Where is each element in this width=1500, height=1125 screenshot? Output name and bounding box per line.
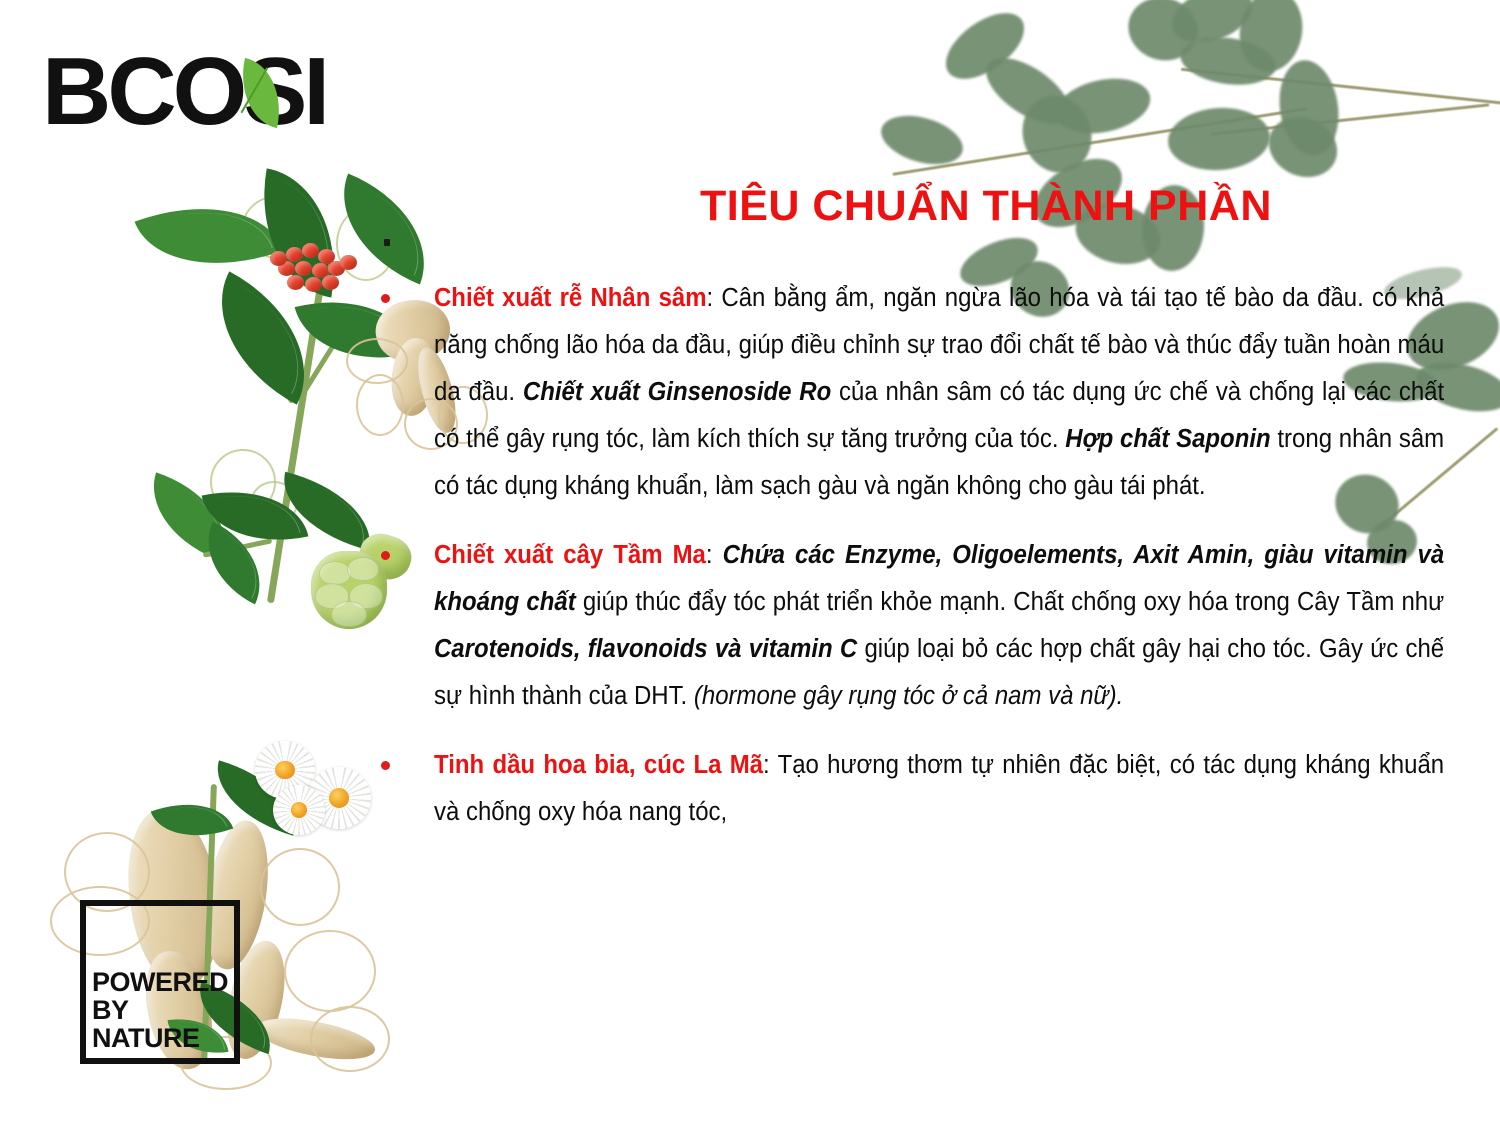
slide-body: Chiết xuất rễ Nhân sâm: Cân bằng ẩm, ngă… bbox=[378, 275, 1388, 858]
bullet-text: Chiết xuất cây Tầm Ma: Chứa các Enzyme, … bbox=[434, 532, 1444, 720]
eucalyptus-branch-top-right-image bbox=[880, 0, 1500, 320]
badge-line-2: BY bbox=[92, 996, 228, 1024]
bullet-segment-emphasis: Hợp chất Saponin bbox=[1065, 425, 1270, 453]
bullet-text: Tinh dầu hoa bia, cúc La Mã: Tạo hương t… bbox=[434, 742, 1444, 836]
badge-text: POWERED BY NATURE bbox=[92, 968, 228, 1052]
daisy-flower bbox=[307, 767, 371, 829]
bullet-separator: : bbox=[706, 541, 723, 569]
stray-mark bbox=[384, 239, 390, 246]
bullet-segment: giúp thúc đẩy tóc phát triển khỏe mạnh. … bbox=[576, 588, 1444, 616]
bullet-separator: : bbox=[707, 284, 722, 312]
slide-title: TIÊU CHUẨN THÀNH PHẦN bbox=[700, 182, 1400, 231]
powered-by-nature-badge: POWERED BY NATURE bbox=[80, 900, 240, 1064]
bullet-item: Tinh dầu hoa bia, cúc La Mã: Tạo hương t… bbox=[378, 742, 1388, 836]
bullet-separator: : bbox=[763, 751, 778, 779]
bullet-segment-note: (hormone gây rụng tóc ở cả nam và nữ). bbox=[694, 682, 1123, 710]
bullet-segment-emphasis: Carotenoids, flavonoids và vitamin C bbox=[434, 635, 857, 663]
daisy-flower bbox=[273, 785, 325, 835]
brand-logo: BCOSI bbox=[42, 42, 382, 142]
bullet-item: Chiết xuất rễ Nhân sâm: Cân bằng ẩm, ngă… bbox=[378, 275, 1388, 510]
chamomile-flowers-image bbox=[255, 735, 395, 865]
badge-line-3: NATURE bbox=[92, 1024, 228, 1052]
bullet-item: Chiết xuất cây Tầm Ma: Chứa các Enzyme, … bbox=[378, 532, 1388, 720]
bullet-lead: Chiết xuất cây Tầm Ma bbox=[434, 541, 706, 569]
bullet-dot-icon bbox=[381, 761, 390, 770]
daisy-flower bbox=[255, 741, 315, 799]
bullet-dot-icon bbox=[381, 294, 390, 303]
logo-wordmark: BCOSI bbox=[42, 42, 382, 142]
bullet-dot-icon bbox=[381, 551, 390, 560]
bullet-lead: Tinh dầu hoa bia, cúc La Mã bbox=[434, 751, 763, 779]
presentation-slide: BCOSI bbox=[0, 0, 1500, 1125]
bullet-text: Chiết xuất rễ Nhân sâm: Cân bằng ẩm, ngă… bbox=[434, 275, 1444, 510]
bullet-segment-emphasis: Chiết xuất Ginsenoside Ro bbox=[523, 378, 831, 406]
bullet-lead: Chiết xuất rễ Nhân sâm bbox=[434, 284, 707, 312]
badge-line-1: POWERED bbox=[92, 968, 228, 996]
